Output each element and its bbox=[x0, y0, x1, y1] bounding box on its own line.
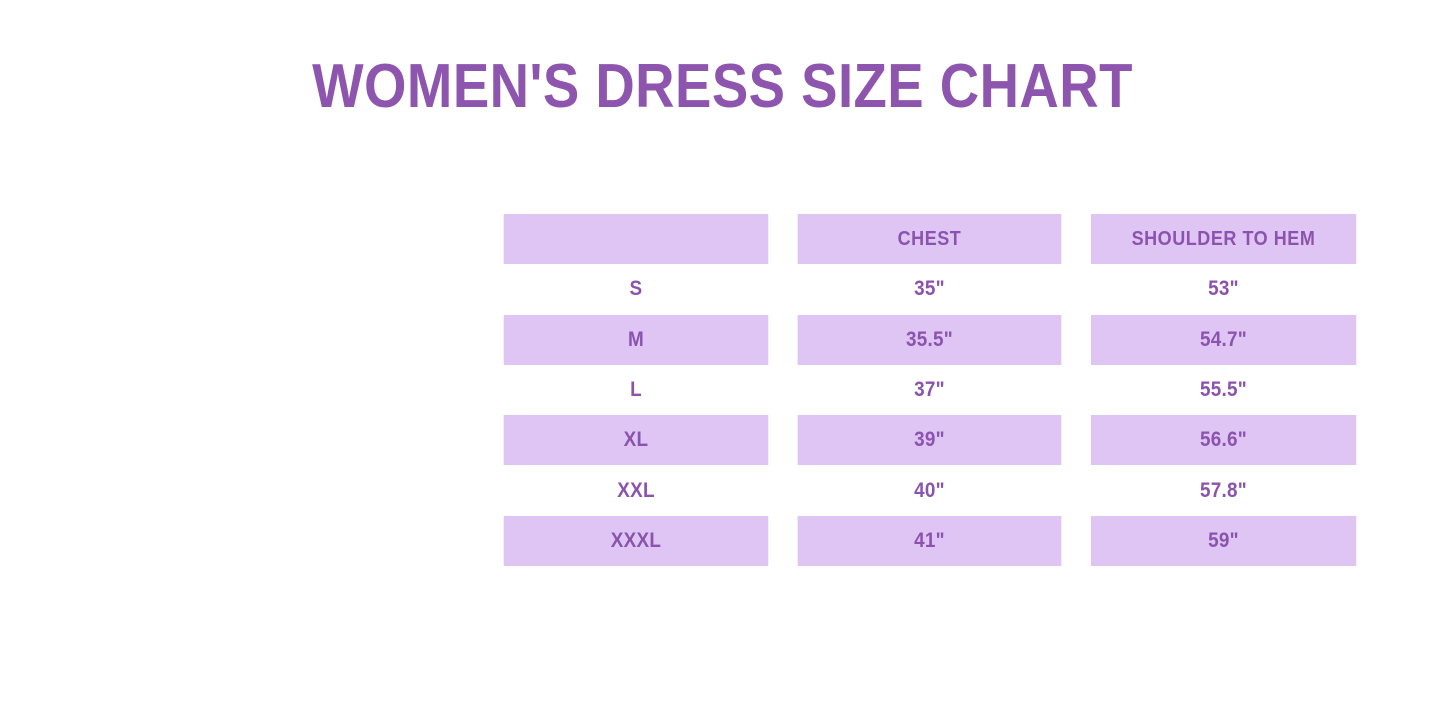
cell-shoulder-to-hem: 59" bbox=[1091, 516, 1357, 566]
table-row: XL 39" 56.6" bbox=[489, 415, 1371, 465]
column-header-shoulder-to-hem: SHOULDER TO HEM bbox=[1091, 214, 1357, 264]
table-row: M 35.5" 54.7" bbox=[489, 315, 1371, 365]
cell-size: L bbox=[504, 365, 769, 415]
cell-size: S bbox=[504, 264, 769, 314]
cell-chest: 40" bbox=[798, 465, 1062, 515]
cell-shoulder-to-hem: 57.8" bbox=[1091, 465, 1357, 515]
cell-chest: 35.5" bbox=[798, 315, 1062, 365]
column-header-chest: CHEST bbox=[798, 214, 1062, 264]
cell-chest: 37" bbox=[798, 365, 1062, 415]
page-title: WOMEN'S DRESS SIZE CHART bbox=[87, 52, 1359, 122]
cell-shoulder-to-hem: 56.6" bbox=[1091, 415, 1357, 465]
table-row: XXL 40" 57.8" bbox=[489, 465, 1371, 515]
cell-size: XL bbox=[504, 415, 769, 465]
cell-chest: 39" bbox=[798, 415, 1062, 465]
table-header-row: CHEST SHOULDER TO HEM bbox=[489, 214, 1371, 264]
cell-size: XXL bbox=[504, 465, 769, 515]
table-row: S 35" 53" bbox=[489, 264, 1371, 314]
cell-size: XXXL bbox=[504, 516, 769, 566]
table-row: XXXL 41" 59" bbox=[489, 516, 1371, 566]
cell-size: M bbox=[504, 315, 769, 365]
table-row: L 37" 55.5" bbox=[489, 365, 1371, 415]
cell-chest: 41" bbox=[798, 516, 1062, 566]
size-chart-table: CHEST SHOULDER TO HEM S 35" 53" M 35.5" … bbox=[489, 214, 1371, 566]
column-header-size bbox=[504, 214, 769, 264]
cell-shoulder-to-hem: 54.7" bbox=[1091, 315, 1357, 365]
cell-shoulder-to-hem: 53" bbox=[1091, 264, 1357, 314]
cell-shoulder-to-hem: 55.5" bbox=[1091, 365, 1357, 415]
cell-chest: 35" bbox=[798, 264, 1062, 314]
